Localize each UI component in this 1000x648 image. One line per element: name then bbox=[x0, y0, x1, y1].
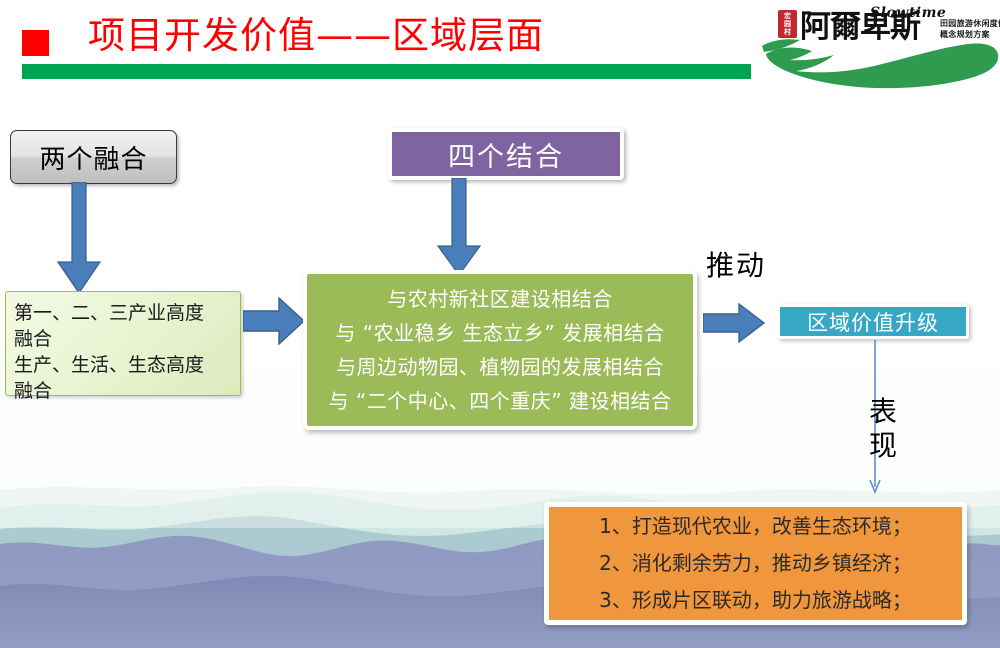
logo-subtitle-line-1: 田园旅游休闲度假区 bbox=[940, 18, 1000, 29]
logo-seal-icon: 宏 园 村 bbox=[778, 10, 797, 38]
page-title: 项目开发价值——区域层面 bbox=[88, 13, 544, 59]
arrow-right-icon-1 bbox=[243, 297, 305, 345]
node-fusion-detail[interactable]: 第一、二、三产业高度 融合 生产、生活、生态高度 融合 bbox=[5, 291, 241, 396]
fusion-detail-line-1: 第一、二、三产业高度 bbox=[14, 300, 234, 326]
outcome-item-2: 2、消化剩余劳力，推动乡镇经济； bbox=[599, 545, 912, 582]
seal-char-1: 宏 bbox=[784, 12, 791, 20]
node-outcomes[interactable]: 1、打造现代农业，改善生态环境； 2、消化剩余劳力，推动乡镇经济； 3、形成片区… bbox=[544, 502, 967, 625]
logo-subtitle-line-2: 概念规划方案 bbox=[940, 29, 1000, 40]
label-manifest-char-2: 现 bbox=[866, 429, 900, 463]
fusion-detail-line-4: 融合 bbox=[14, 378, 234, 404]
seal-char-2: 园 bbox=[784, 20, 791, 28]
fusion-detail-line-2: 融合 bbox=[14, 326, 234, 352]
node-regional-value[interactable]: 区域价值升级 bbox=[777, 304, 969, 339]
node-regional-value-label: 区域价值升级 bbox=[807, 307, 939, 337]
node-four-combinations[interactable]: 四个结合 bbox=[388, 128, 624, 180]
seal-char-3: 村 bbox=[784, 28, 791, 36]
node-two-fusions-label: 两个融合 bbox=[39, 139, 147, 176]
arrow-down-icon-left bbox=[57, 182, 101, 294]
fusion-detail-line-3: 生产、生活、生态高度 bbox=[14, 352, 234, 378]
logo-brand-cn: 阿爾卑斯 bbox=[800, 10, 920, 44]
combination-detail-line-3: 与周边动物园、植物园的发展相结合 bbox=[336, 350, 664, 384]
slide-canvas: 项目开发价值——区域层面 宏 园 村 Slowtime 阿爾卑斯 田园旅游休闲度… bbox=[0, 0, 1000, 648]
node-two-fusions[interactable]: 两个融合 bbox=[10, 130, 177, 184]
combination-detail-line-4: 与 “二个中心、四个重庆” 建设相结合 bbox=[329, 384, 672, 418]
node-four-combinations-label: 四个结合 bbox=[448, 135, 564, 174]
brand-logo: 宏 园 村 Slowtime 阿爾卑斯 田园旅游休闲度假区 概念规划方案 bbox=[762, 2, 1000, 94]
label-manifest: 表 现 bbox=[866, 395, 900, 463]
logo-subtitle: 田园旅游休闲度假区 概念规划方案 bbox=[940, 18, 1000, 40]
outcome-item-1: 1、打造现代农业，改善生态环境； bbox=[599, 508, 912, 545]
outcome-item-3: 3、形成片区联动，助力旅游战略； bbox=[599, 582, 912, 619]
header-green-bar bbox=[22, 64, 751, 79]
arrow-down-icon-middle bbox=[437, 178, 481, 276]
combination-detail-line-1: 与农村新社区建设相结合 bbox=[387, 282, 613, 316]
bullet-square-icon bbox=[22, 30, 49, 56]
arrow-right-icon-2 bbox=[703, 303, 765, 343]
node-combination-detail[interactable]: 与农村新社区建设相结合 与 “农业稳乡 生态立乡” 发展相结合 与周边动物园、植… bbox=[303, 270, 697, 430]
label-manifest-char-1: 表 bbox=[866, 395, 900, 429]
label-push: 推动 bbox=[706, 250, 766, 282]
combination-detail-line-2: 与 “农业稳乡 生态立乡” 发展相结合 bbox=[335, 316, 664, 350]
